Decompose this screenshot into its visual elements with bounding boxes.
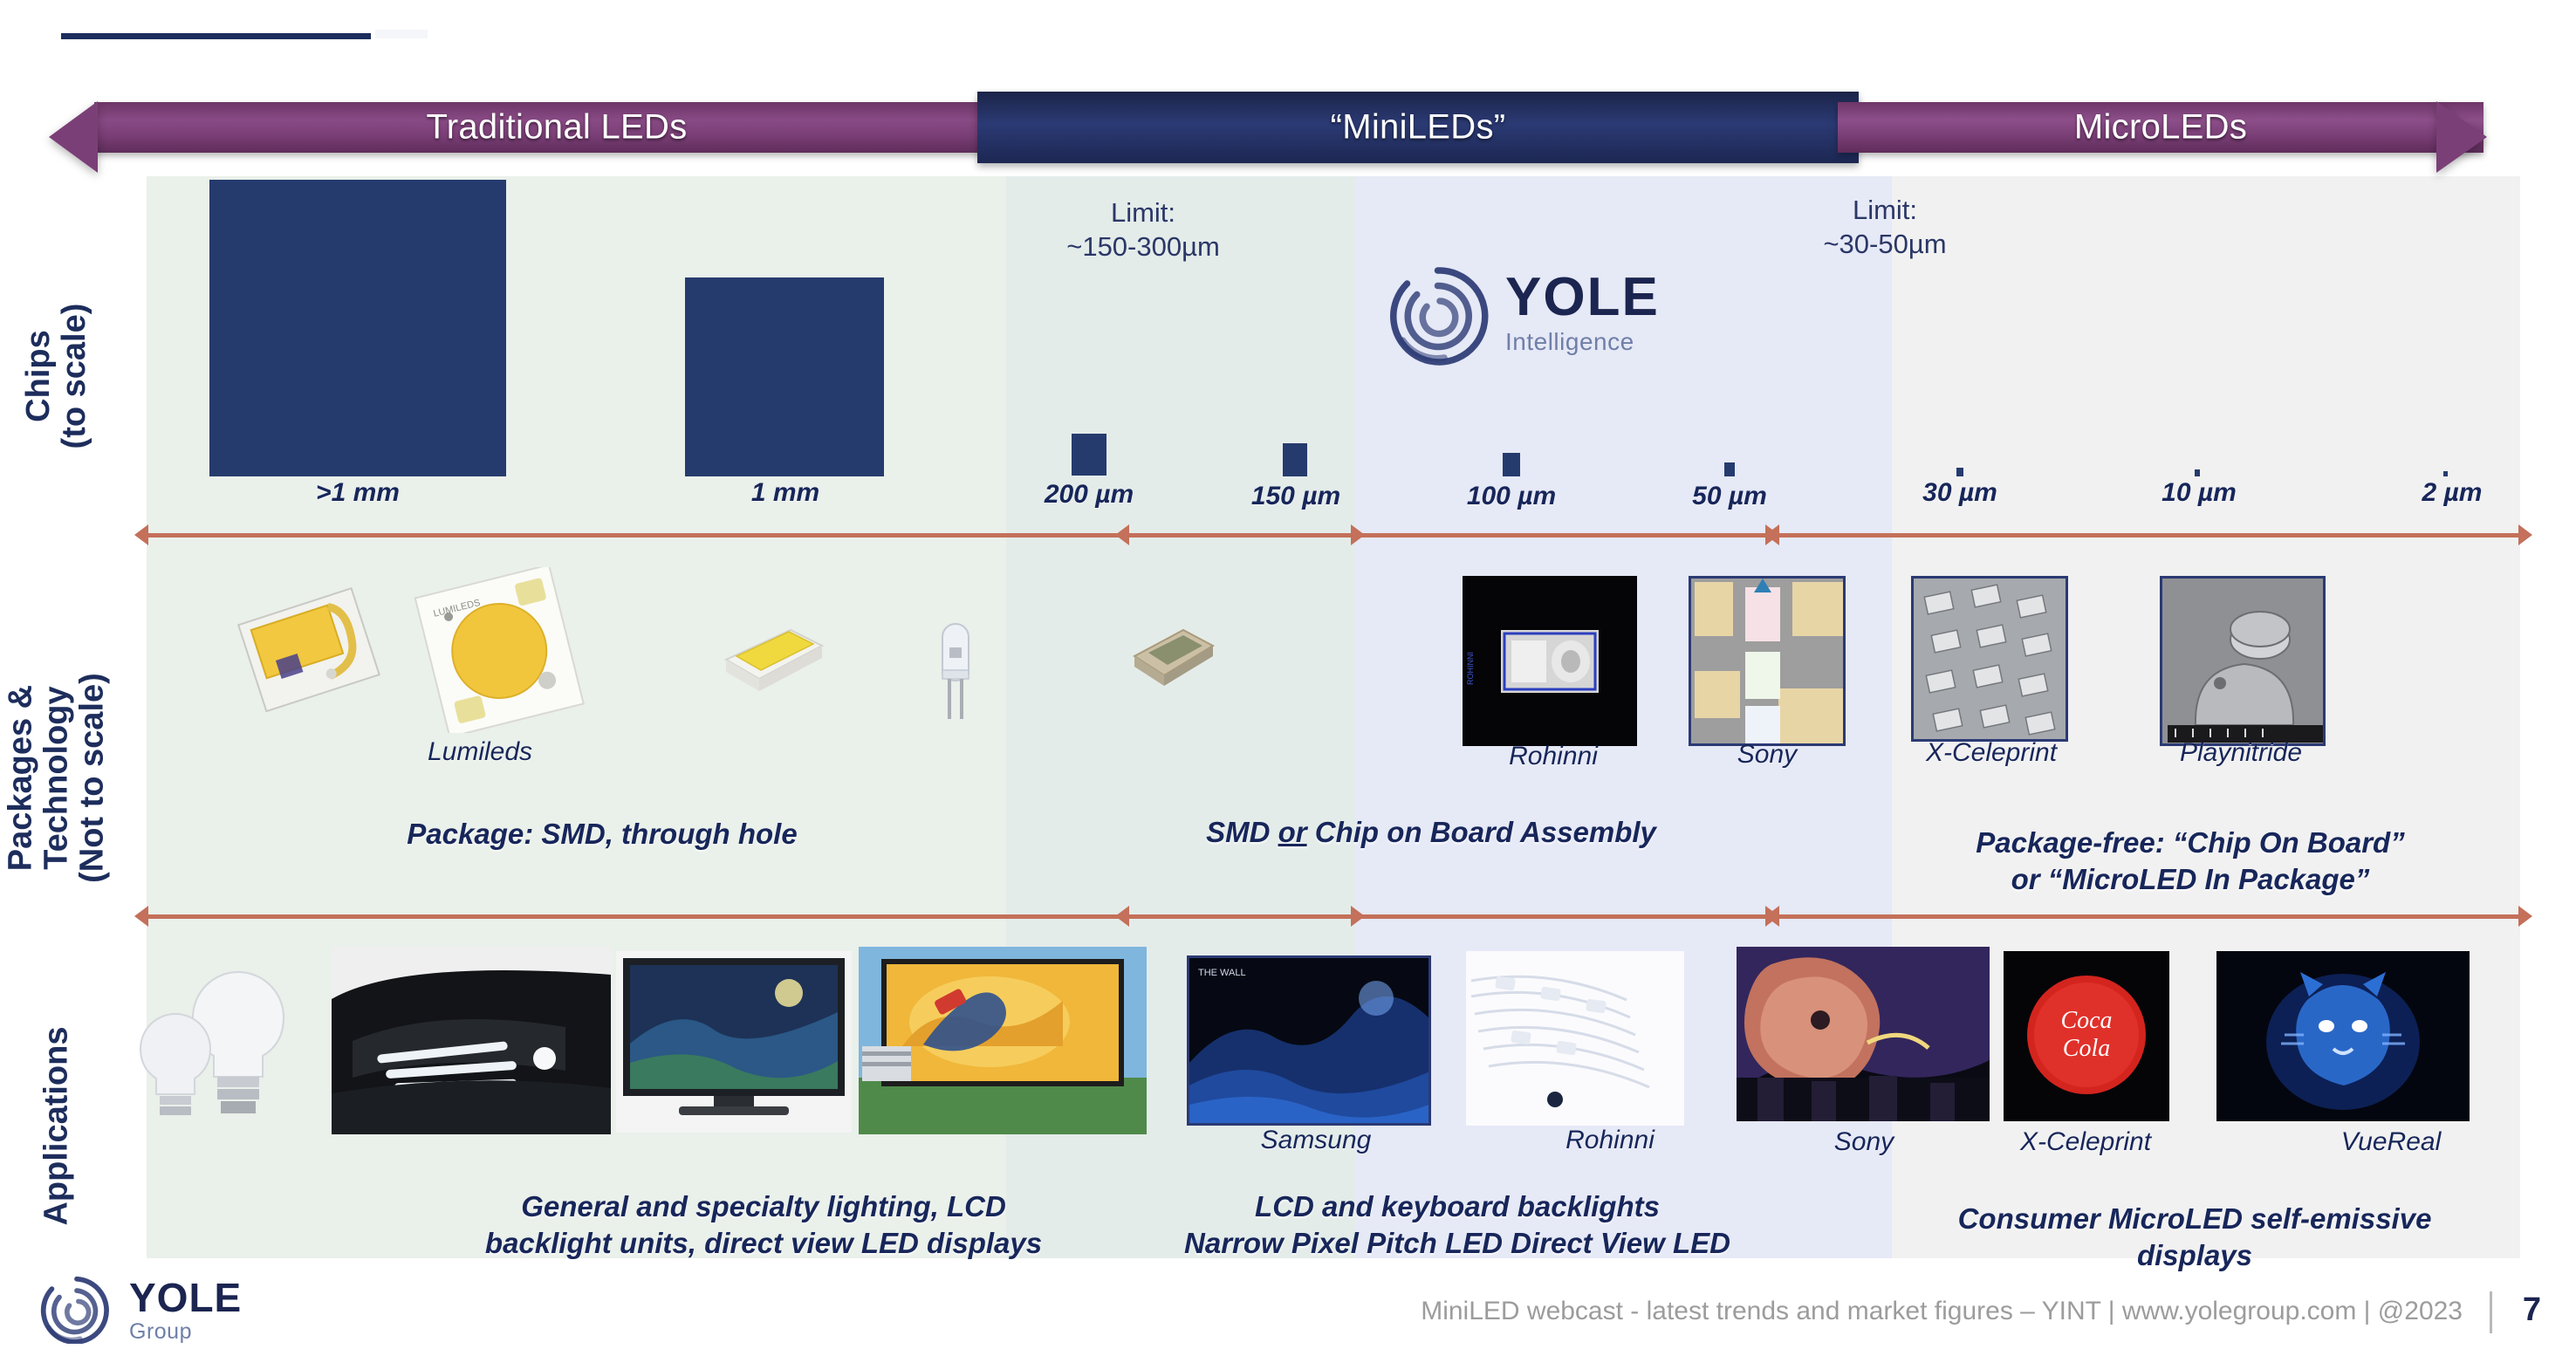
application-blurb-micro-line1: Consumer MicroLED self-emissive [1824,1201,2566,1237]
micro-arrow: MicroLEDs [1838,102,2484,153]
application-image-rohinni-keyboard [1466,951,1684,1126]
application-image-automotive-headlight [332,947,611,1134]
limit-annotation-micro: Limit: ~30-50µm [1754,194,2016,262]
slide-canvas: Traditional LEDs “MiniLEDs” MicroLEDs Ch… [0,0,2576,1349]
limit-micro-line2: ~30-50µm [1754,228,2016,262]
segment-label-micro: MicroLEDs [1838,108,2484,147]
svg-text:THE WALL: THE WALL [1198,968,1246,978]
row-label-applications: Applications [0,1003,113,1248]
row-label-packages-line2: Technology [38,617,74,940]
chip-square-10um [2195,469,2200,476]
application-caption-vuereal: VueReal [2286,1127,2496,1157]
footer-subtitle: Group [129,1319,242,1345]
limit-micro-line1: Limit: [1754,194,2016,228]
svg-text:ROHINNI: ROHINNI [1466,652,1475,685]
application-blurb-traditional-line1: General and specialty lighting, LCD [419,1188,1108,1225]
package-blurb-micro-line1: Package-free: “Chip On Board” [1798,825,2576,861]
scale-axis-top [147,533,2520,538]
yole-swirl-icon [1383,262,1492,371]
chip-square-150um [1283,443,1307,476]
package-blurb-mini: SMD or Chip on Board Assembly [1134,814,1728,851]
watermark-subtitle: Intelligence [1505,328,1660,356]
page-number: 7 [2523,1291,2541,1329]
chip-square-200um [1072,434,1106,476]
application-blurb-mini-line2: Narrow Pixel Pitch LED Direct View LED [1134,1225,1780,1262]
axis-tick-micro-right-icon [1765,524,1779,545]
axis-tick-mini-left-icon [1115,524,1129,545]
axis-tick-mini-right-icon [1351,524,1365,545]
package-caption-playnitride: Playnitride [2136,738,2346,768]
yole-intelligence-watermark: YOLE Intelligence [1383,262,1750,375]
limit-annotation-mini: Limit: ~150-300µm [1012,196,1274,264]
chip-square-1mm [685,277,884,476]
package-image-lumileds-cob: LUMILEDS [406,567,593,733]
package-caption-sony: Sony [1662,740,1872,770]
row-label-chips-line1: Chips [21,271,57,481]
package-caption-rohinni: Rohinni [1449,742,1658,771]
axis2-tick-micro-right-icon [1765,906,1779,927]
axis-tip-right-icon [2518,524,2532,545]
chip-square-30um [1956,468,1963,476]
application-blurb-traditional: General and specialty lighting, LCD back… [419,1188,1108,1262]
row-label-chips-line2: (to scale) [57,271,92,481]
axis2-tick-mini-left-icon [1115,906,1129,927]
watermark-brand: YOLE [1505,270,1660,325]
axis2-tip-left-icon [134,906,148,927]
chip-label-50um: 50 µm [1625,482,1834,511]
package-blurb-mini-or: or [1278,816,1307,848]
chip-square-50um [1724,462,1735,476]
chip-square-2um [2443,471,2448,476]
mini-segment-box: “MiniLEDs” [977,92,1859,163]
left-arrowhead-icon [49,101,98,173]
title-underline-ghost [375,30,428,38]
chip-label-2um: 2 µm [2347,478,2557,508]
application-caption-sony: Sony [1759,1127,1969,1157]
package-caption-xceleprint: X-Celeprint [1887,738,2096,768]
package-image-sony [1689,576,1846,746]
package-image-xceleprint [1911,576,2068,742]
application-blurb-micro: Consumer MicroLED self-emissive displays [1824,1201,2566,1274]
svg-text:Cola: Cola [2063,1035,2110,1062]
row-label-packages-line1: Packages & [3,617,38,940]
chip-label-200um: 200 µm [984,480,1194,510]
application-blurb-mini-line1: LCD and keyboard backlights [1134,1188,1780,1225]
footer-divider [2490,1291,2492,1333]
application-image-led-billboard [859,947,1147,1134]
application-image-samsung-the-wall: THE WALL [1187,955,1431,1126]
chip-label-1mm: 1 mm [681,478,890,508]
package-image-miniled-smd [1126,611,1222,698]
axis2-tick-mini-right-icon [1351,906,1365,927]
package-blurb-mini-post: Chip on Board Assembly [1307,816,1656,848]
package-blurb-micro-line2: or “MicroLED In Package” [1798,861,2576,898]
segment-label-mini: “MiniLEDs” [977,108,1859,147]
application-image-xceleprint-display: Coca Cola [2004,951,2169,1121]
package-image-rohinni: ROHINNI [1463,576,1637,746]
application-caption-rohinni: Rohinni [1505,1126,1715,1155]
spectrum-header: Traditional LEDs “MiniLEDs” MicroLEDs [94,92,2529,163]
application-caption-samsung: Samsung [1211,1126,1421,1155]
package-image-smd-5730 [716,611,829,707]
chip-label-100um: 100 µm [1407,482,1616,511]
package-image-playnitride [2160,576,2326,746]
chip-label-150um: 150 µm [1191,482,1401,511]
row-label-packages-line3: (Not to scale) [75,617,111,940]
slide-footer: YOLE Group MiniLED webcast - latest tren… [0,1265,2576,1349]
axis-tip-left-icon [134,524,148,545]
traditional-arrow: Traditional LEDs [94,102,1019,153]
row-label-chips: Chips (to scale) [0,262,113,471]
chip-label-30um: 30 µm [1855,478,2065,508]
footer-brand: YOLE [129,1277,242,1318]
application-image-lcd-tv [616,951,852,1133]
package-image-through-hole-lamp [916,602,995,724]
chip-label-10um: 10 µm [2094,478,2304,508]
segment-label-traditional: Traditional LEDs [94,108,1019,147]
footer-note: MiniLED webcast - latest trends and mark… [1421,1297,2463,1326]
title-underline [61,33,371,39]
row-label-packages: Packages & Technology (Not to scale) [0,611,113,907]
package-caption-lumileds: Lumileds [375,737,585,767]
package-blurb-micro: Package-free: “Chip On Board” or “MicroL… [1798,825,2576,898]
limit-mini-line1: Limit: [1012,196,1274,230]
application-blurb-mini: LCD and keyboard backlights Narrow Pixel… [1134,1188,1780,1262]
limit-mini-line2: ~150-300µm [1012,230,1274,264]
axis2-tip-right-icon [2518,906,2532,927]
chip-square-1mm-plus [209,180,506,476]
package-blurb-mini-pre: SMD [1206,816,1278,848]
application-image-vuereal-display [2216,951,2470,1121]
application-blurb-traditional-line2: backlight units, direct view LED display… [419,1225,1108,1262]
scale-axis-bottom [147,914,2520,919]
package-blurb-traditional: Package: SMD, through hole [332,816,873,853]
row-label-applications-line1: Applications [38,1017,74,1236]
package-image-smd-goldframe [225,580,391,720]
chip-label-1mm-plus: >1 mm [253,478,462,508]
yole-group-logo: YOLE Group [35,1274,297,1344]
application-caption-xceleprint: X-Celeprint [1981,1127,2190,1157]
svg-text:Coca: Coca [2060,1007,2112,1034]
chip-square-100um [1503,453,1520,476]
application-image-light-bulbs [135,951,327,1126]
yole-swirl-icon-footer [35,1274,119,1344]
application-image-sony-display [1737,947,1990,1121]
